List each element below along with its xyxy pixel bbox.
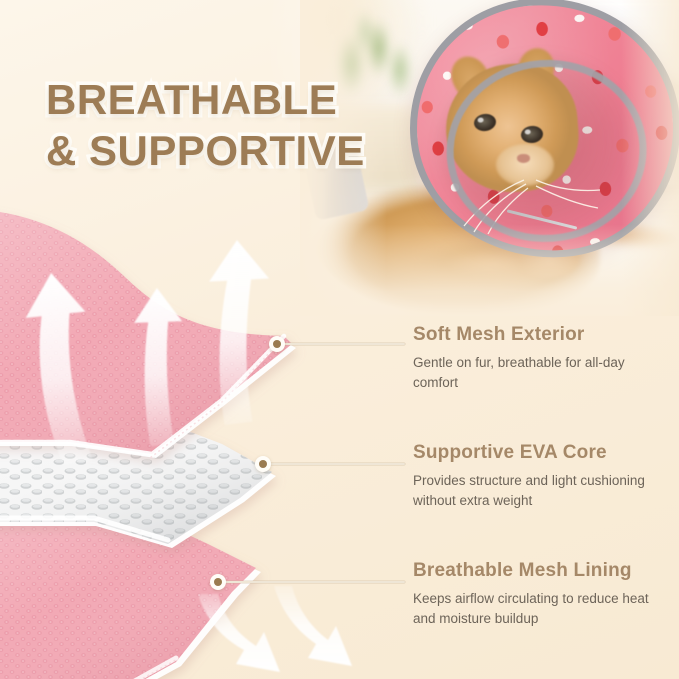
connector-line-2 bbox=[263, 455, 405, 473]
infographic-canvas: BREATHABLE & SUPPORTIVE bbox=[0, 0, 679, 679]
connector-line-1 bbox=[277, 335, 405, 353]
callout-desc-1: Gentle on fur, breathable for all-day co… bbox=[413, 353, 663, 392]
callout-title-1: Soft Mesh Exterior bbox=[413, 324, 663, 346]
material-layers-diagram bbox=[0, 196, 396, 679]
cat-muzzle bbox=[496, 144, 554, 186]
connector-dot-1 bbox=[269, 336, 285, 352]
callout-breathable-mesh-lining: Breathable Mesh Lining Keeps airflow cir… bbox=[413, 560, 665, 628]
connector-line-3 bbox=[218, 573, 405, 591]
page-title: BREATHABLE & SUPPORTIVE bbox=[46, 78, 466, 173]
connector-stroke-1 bbox=[277, 343, 405, 345]
callout-desc-2: Provides structure and light cushioning … bbox=[413, 471, 659, 510]
connector-dot-2 bbox=[255, 456, 271, 472]
callout-soft-mesh-exterior: Soft Mesh Exterior Gentle on fur, breath… bbox=[413, 324, 663, 392]
connector-stroke-2 bbox=[263, 463, 405, 465]
callout-supportive-eva-core: Supportive EVA Core Provides structure a… bbox=[413, 442, 659, 510]
headline-line-2: & SUPPORTIVE bbox=[46, 129, 466, 174]
callout-title-2: Supportive EVA Core bbox=[413, 442, 659, 464]
connector-dot-3 bbox=[210, 574, 226, 590]
connector-stroke-3 bbox=[218, 581, 405, 583]
callout-desc-3: Keeps airflow circulating to reduce heat… bbox=[413, 589, 665, 628]
headline-line-1: BREATHABLE bbox=[46, 78, 466, 123]
callout-title-3: Breathable Mesh Lining bbox=[413, 560, 665, 582]
cat-nose bbox=[517, 154, 530, 163]
